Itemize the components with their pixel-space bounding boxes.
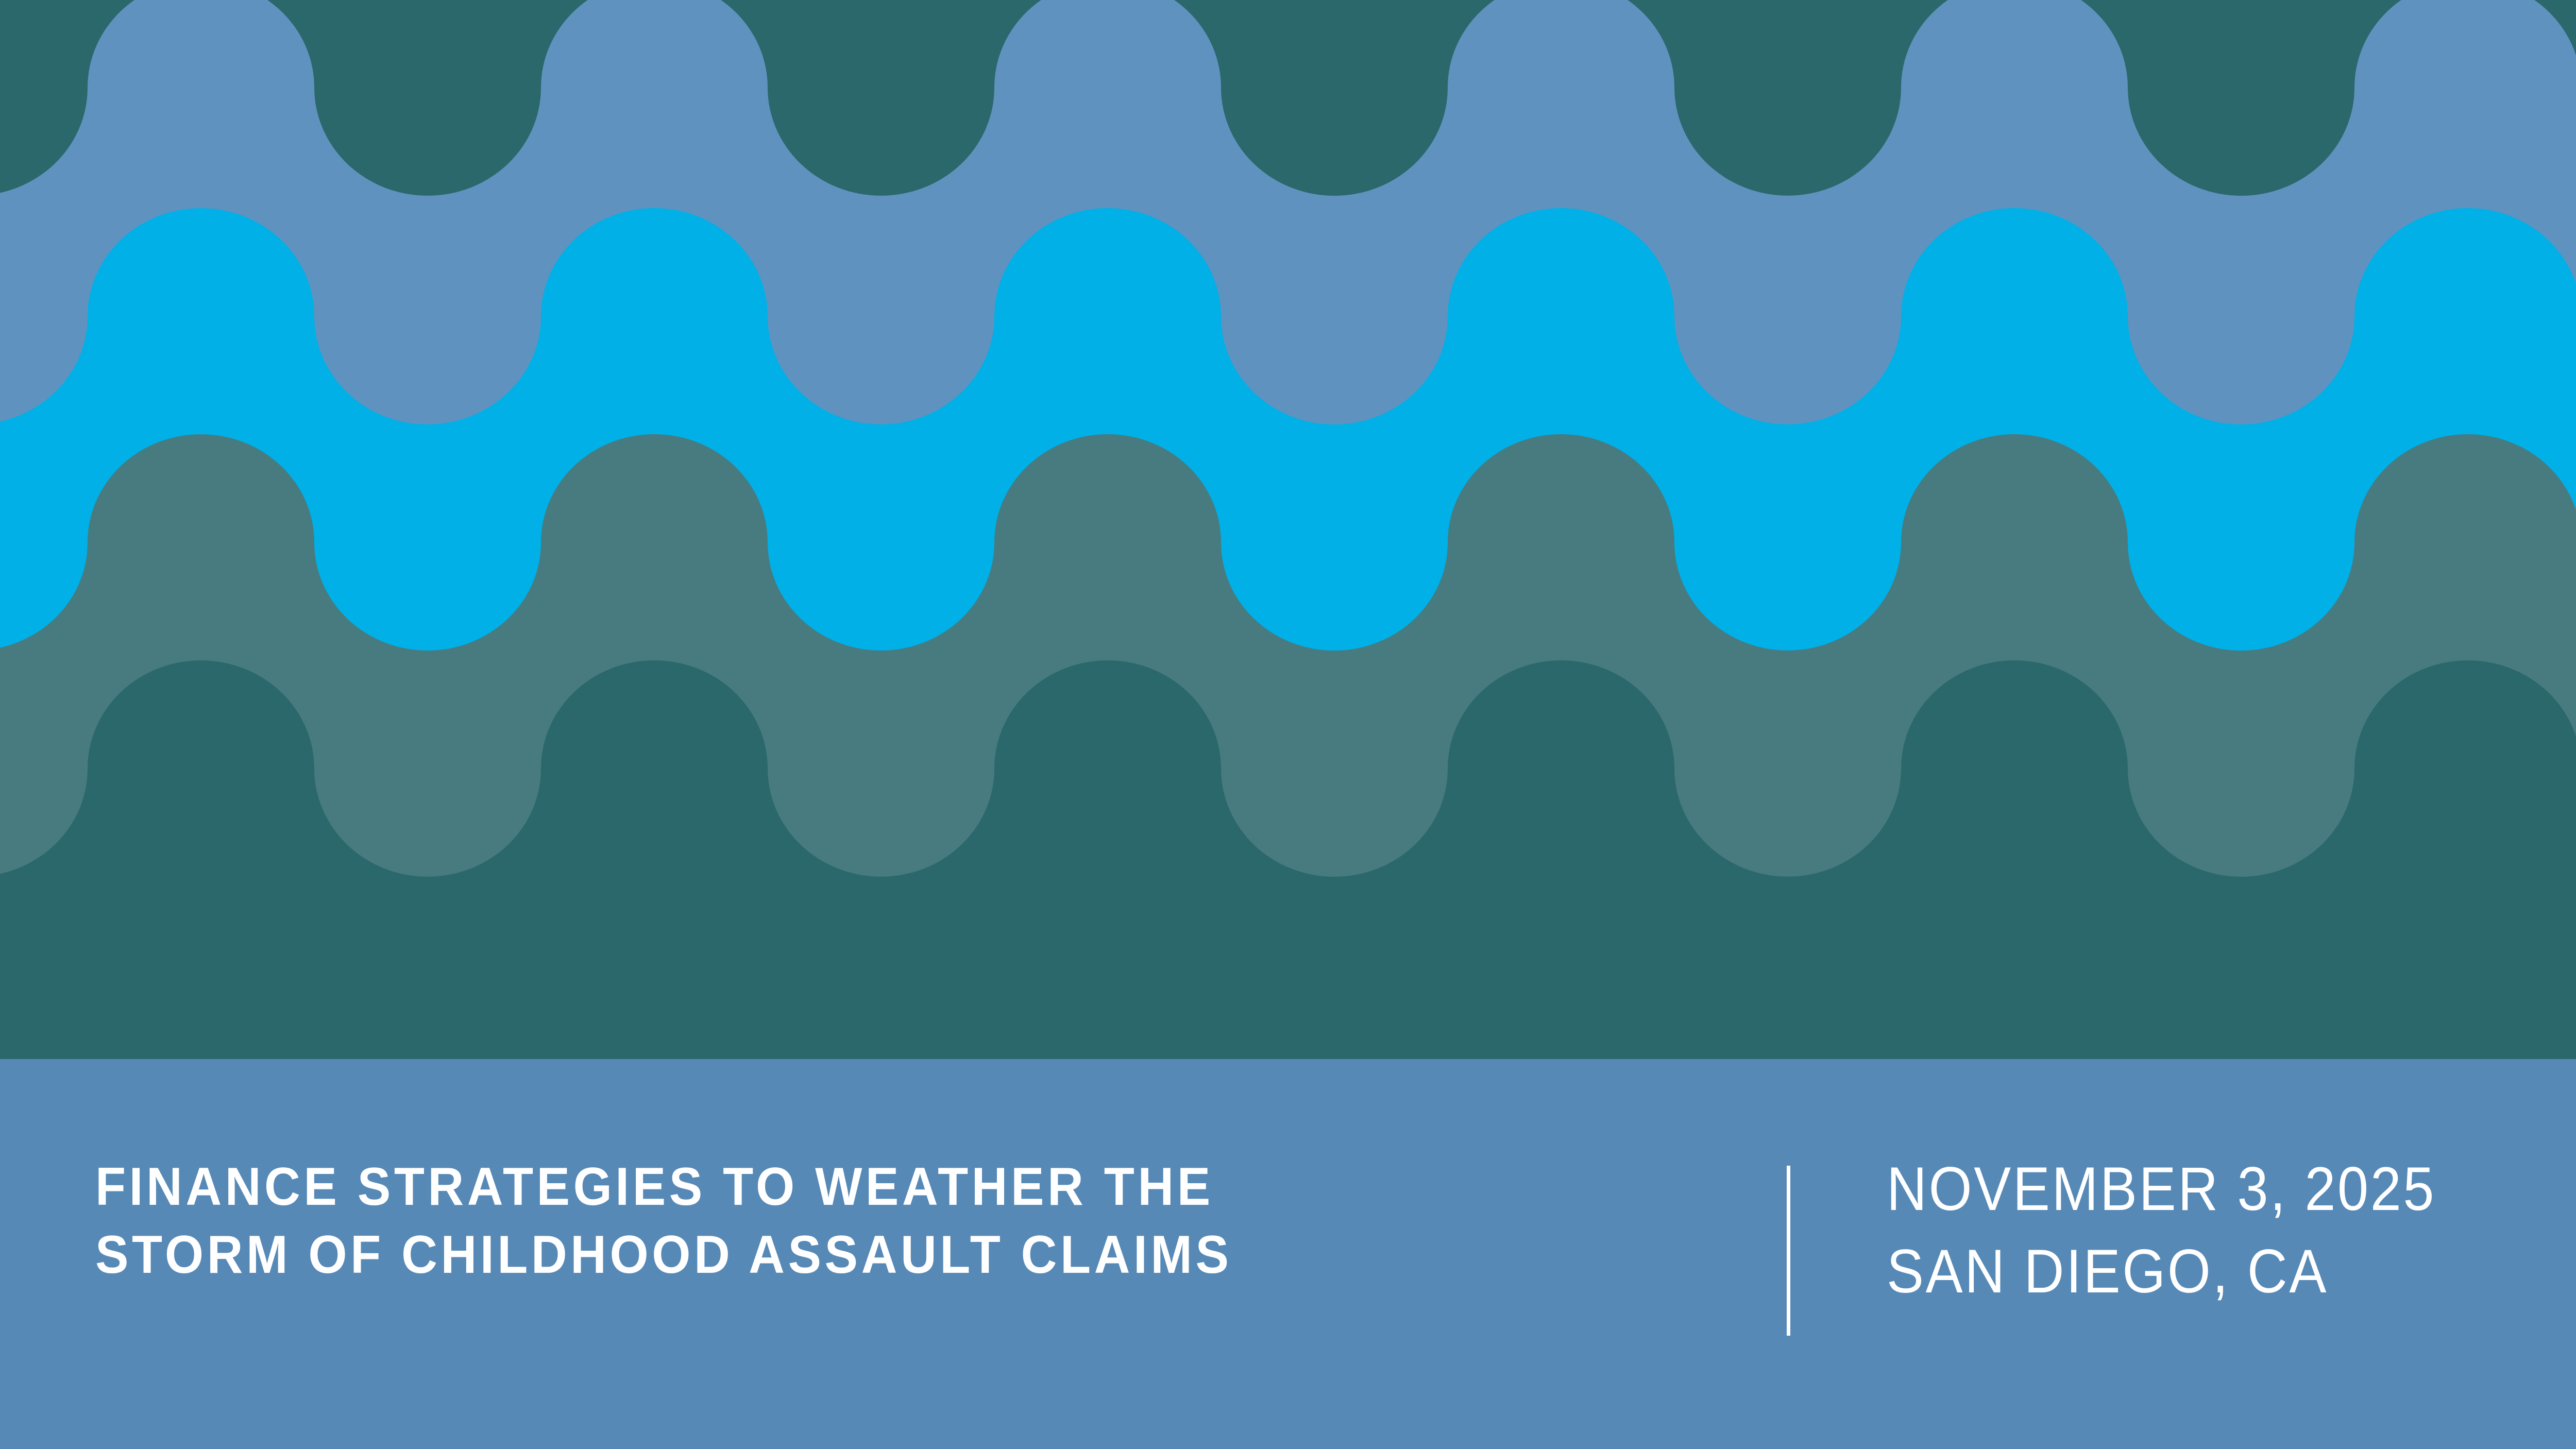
event-date: NOVEMBER 3, 2025 — [1887, 1148, 2471, 1230]
event-meta: NOVEMBER 3, 2025 SAN DIEGO, CA — [1887, 1148, 2536, 1312]
event-banner: FINANCE STRATEGIES TO WEATHER THE STORM … — [0, 0, 2576, 1449]
event-title-line-2: STORM OF CHILDHOOD ASSAULT CLAIMS — [95, 1221, 1581, 1289]
event-title: FINANCE STRATEGIES TO WEATHER THE STORM … — [95, 1153, 1692, 1289]
wave-pattern-graphic — [0, 0, 2576, 1059]
event-location: SAN DIEGO, CA — [1887, 1230, 2471, 1312]
event-title-line-1: FINANCE STRATEGIES TO WEATHER THE — [95, 1153, 1581, 1221]
vertical-divider — [1787, 1166, 1790, 1336]
wave-pattern-svg — [0, 0, 2576, 1059]
